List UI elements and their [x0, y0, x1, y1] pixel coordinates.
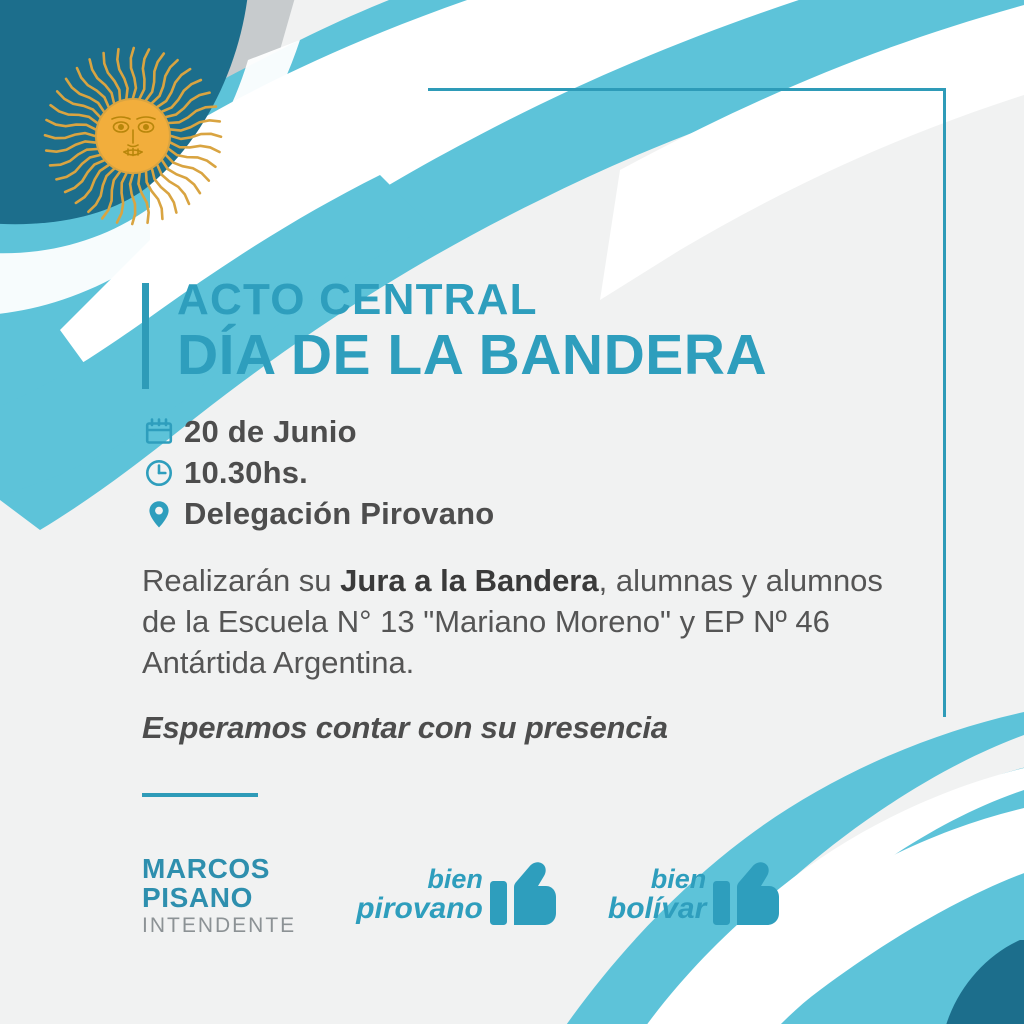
sun-of-may-icon [45, 48, 221, 224]
event-location-text: Delegación Pirovano [184, 496, 494, 532]
poster-content: ACTO CENTRAL DÍA DE LA BANDERA 20 de Jun… [142, 278, 942, 746]
description-part-1: Realizarán su [142, 563, 340, 598]
logo-pisano-line-1: MARCOS [142, 855, 296, 883]
calendar-icon [142, 415, 176, 449]
title-line-1: ACTO CENTRAL [177, 278, 942, 322]
logo-bien-pirovano: bien pirovano [356, 857, 558, 934]
event-description: Realizarán su Jura a la Bandera, alumnas… [142, 561, 902, 684]
flag-day-event-poster: ACTO CENTRAL DÍA DE LA BANDERA 20 de Jun… [0, 0, 1024, 1024]
ribbon-fold-dark-teal-bottom [940, 940, 1024, 1024]
logo-pirovano-word-1: bien [356, 866, 483, 894]
description-bold-phrase: Jura a la Bandera [340, 563, 598, 598]
page-title: ACTO CENTRAL DÍA DE LA BANDERA [142, 278, 942, 386]
logo-pisano-line-2: PISANO [142, 884, 296, 912]
event-date-row: 20 de Junio [142, 412, 942, 453]
event-date-text: 20 de Junio [184, 414, 357, 450]
event-time-row: 10.30hs. [142, 453, 942, 494]
logo-bolivar-words: bien bolívar [608, 866, 706, 924]
event-location-row: Delegación Pirovano [142, 494, 942, 535]
title-line-2: DÍA DE LA BANDERA [177, 326, 942, 386]
event-details-list: 20 de Junio 10.30hs. [142, 412, 942, 535]
ribbon-shadow-top [60, 0, 300, 230]
logo-bolivar-word-1: bien [608, 866, 706, 894]
ribbon-fold-dark-teal [0, 0, 250, 224]
logo-bolivar-word-2: bolívar [608, 894, 706, 925]
title-accent-bar [142, 283, 149, 389]
event-time-text: 10.30hs. [184, 455, 308, 491]
frame-line-top [428, 88, 946, 91]
logo-pirovano-words: bien pirovano [356, 866, 483, 924]
ribbon-shadow-bottom [900, 900, 1024, 1024]
logo-pirovano-word-2: pirovano [356, 894, 483, 925]
closing-line: Esperamos contar con su presencia [142, 710, 942, 746]
thumbs-up-b-icon [488, 857, 558, 934]
clock-icon [142, 456, 176, 490]
logo-marcos-pisano: MARCOS PISANO INTENDENTE [142, 855, 296, 936]
ribbon-stripe-white-second [600, 5, 1024, 300]
thumbs-up-b-icon [711, 857, 781, 934]
logo-pisano-line-3: INTENDENTE [142, 915, 296, 936]
footer-logos: MARCOS PISANO INTENDENTE bien pirovano b… [142, 855, 831, 936]
footer-divider [142, 793, 258, 797]
frame-line-right [943, 88, 946, 717]
location-pin-icon [142, 497, 176, 531]
logo-bien-bolivar: bien bolívar [608, 857, 781, 934]
